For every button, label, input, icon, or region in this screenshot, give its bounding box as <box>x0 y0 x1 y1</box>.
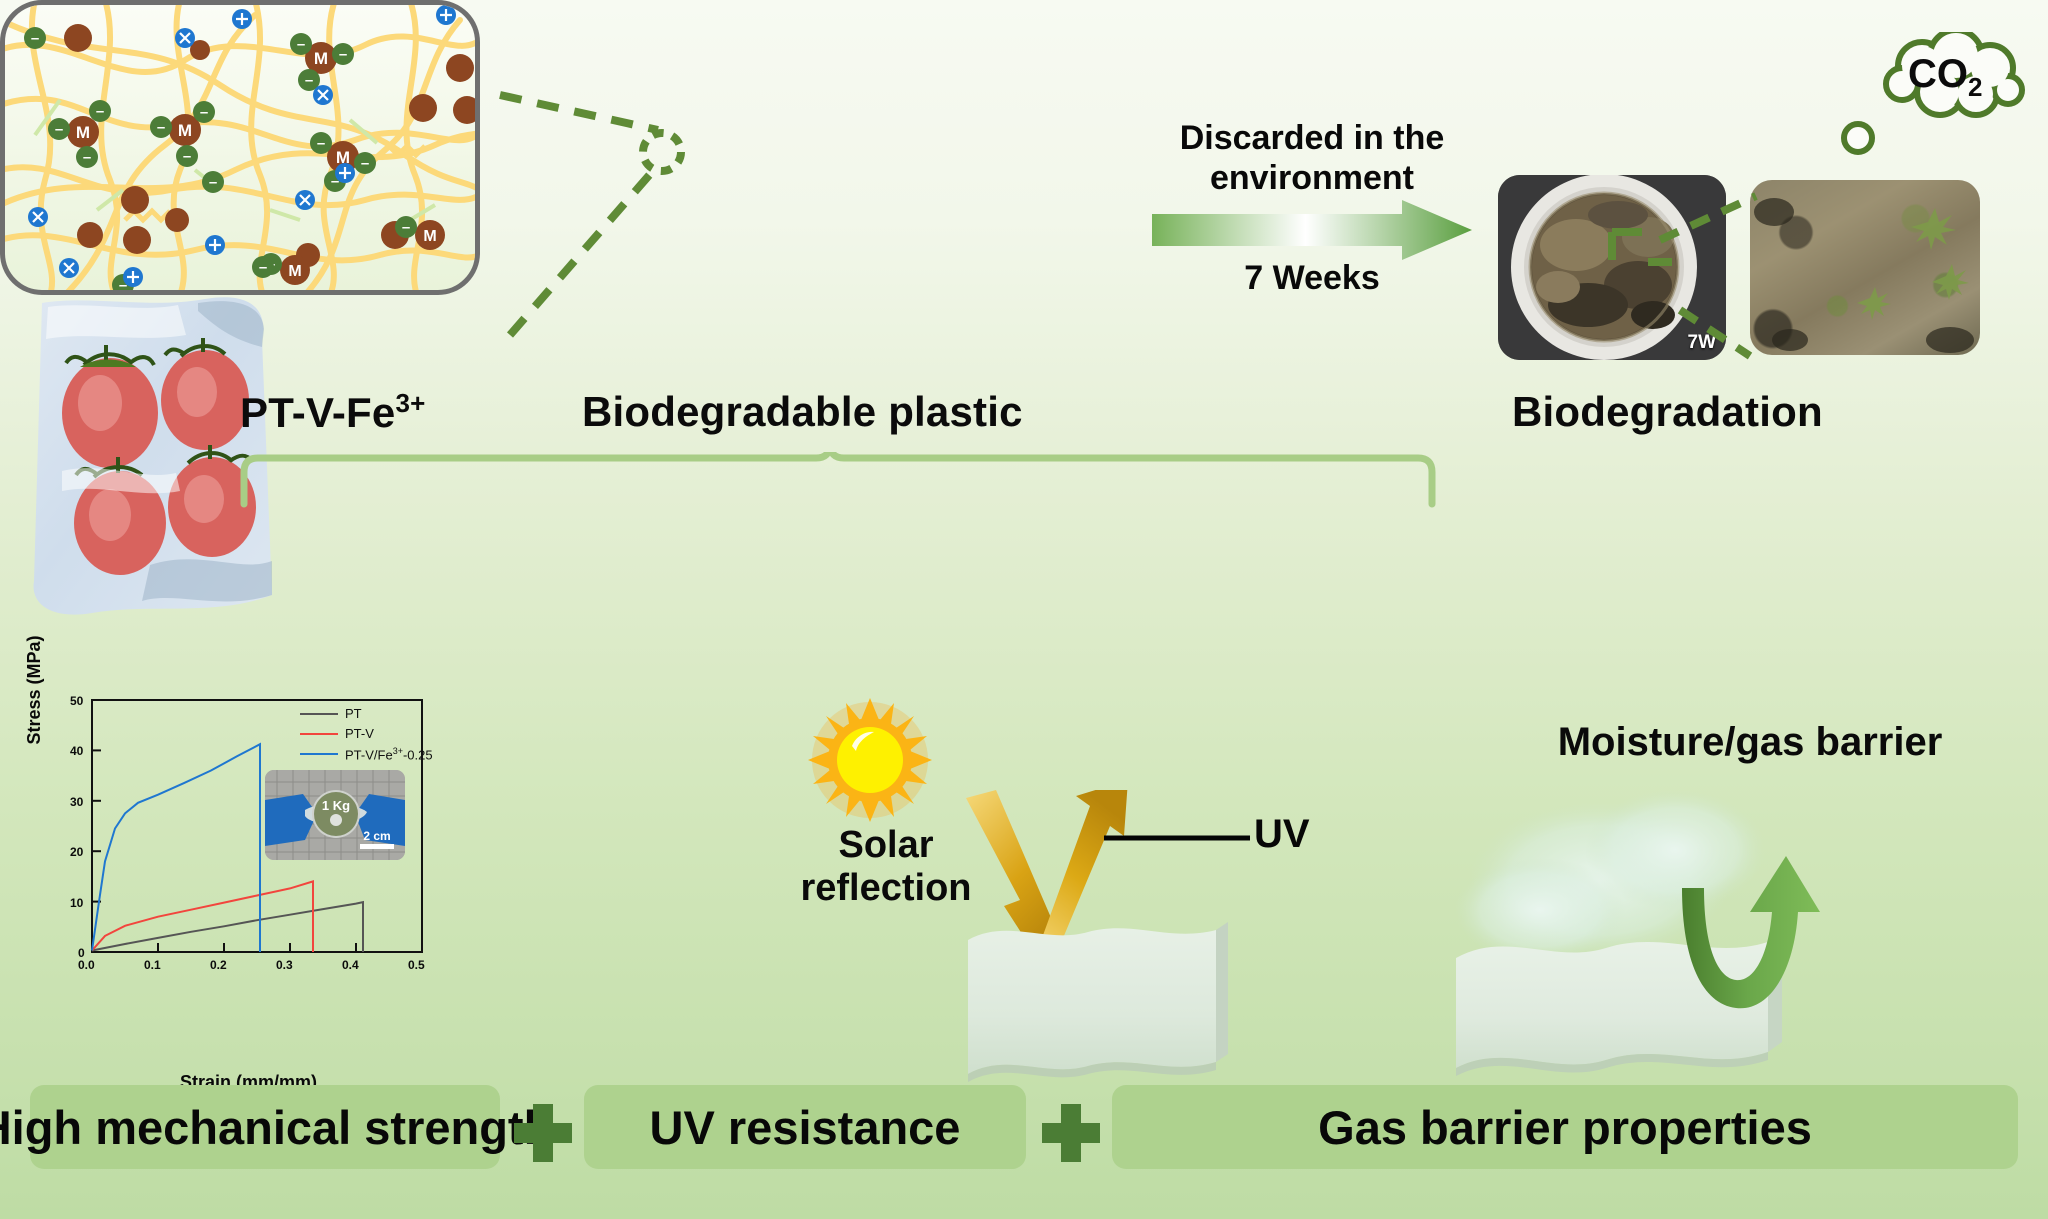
uv-label: UV <box>1254 812 1310 857</box>
plus-icon-2 <box>1042 1104 1100 1162</box>
legend-item-ptvfe: PT-V/Fe3+-0.25 <box>300 746 433 762</box>
chart-y-axis-label: Stress (MPa) <box>24 620 45 760</box>
uv-reflection-diagram <box>960 790 1380 1090</box>
ytick-30: 30 <box>70 795 83 809</box>
xtick-4: 0.4 <box>342 958 359 972</box>
chart-inset-photo: 1 Kg 2 cm <box>265 770 405 860</box>
ytick-10: 10 <box>70 896 83 910</box>
ytick-50: 50 <box>70 694 83 708</box>
banner-gas-barrier: Gas barrier properties <box>1112 1085 2018 1169</box>
plus-icon-1 <box>514 1104 572 1162</box>
banner-uv-resistance: UV resistance <box>584 1085 1026 1169</box>
co2-bubble-tail <box>1838 118 1878 158</box>
ytick-20: 20 <box>70 845 83 859</box>
moisture-cloud <box>1455 790 1765 962</box>
legend-swatch-pt <box>300 713 338 715</box>
svg-text:1 Kg: 1 Kg <box>322 798 350 813</box>
legend-label-ptv: PT-V <box>345 726 374 741</box>
legend-label-ptvfe: PT-V/Fe3+-0.25 <box>345 746 433 762</box>
photo-zoom-dashed-connector <box>1560 180 1790 370</box>
barrier-diagram <box>1450 760 2010 1080</box>
xtick-1: 0.1 <box>144 958 161 972</box>
arrow-caption-duration: 7 Weeks <box>1152 258 1472 298</box>
ytick-40: 40 <box>70 744 83 758</box>
co2-label: CO2 <box>1908 52 1982 103</box>
callout-dashed-lines <box>480 60 710 390</box>
heading-biodegradable-plastic: Biodegradable plastic <box>582 388 1023 436</box>
arrow-caption-top: Discarded in the environment <box>1152 118 1472 198</box>
process-arrow <box>1152 200 1472 260</box>
discard-line-1: Discarded in the <box>1180 119 1445 157</box>
heading-biodegradation: Biodegradation <box>1512 388 1823 436</box>
stress-strain-chart <box>0 0 470 1100</box>
legend-item-pt: PT <box>300 706 433 721</box>
xtick-0: 0.0 <box>78 958 95 972</box>
svg-text:2 cm: 2 cm <box>363 829 390 843</box>
xtick-2: 0.2 <box>210 958 227 972</box>
solar-reflection-label: Solar reflection <box>796 824 976 909</box>
discard-line-2: environment <box>1210 159 1414 197</box>
legend-swatch-ptvfe <box>300 753 338 755</box>
banner-mechanical-strength: High mechanical strength <box>30 1085 500 1169</box>
legend-item-ptv: PT-V <box>300 726 433 741</box>
xtick-5: 0.5 <box>408 958 425 972</box>
legend-label-pt: PT <box>345 706 362 721</box>
legend-swatch-ptv <box>300 733 338 735</box>
moisture-gas-barrier-label: Moisture/gas barrier <box>1490 720 2010 765</box>
chart-legend: PT PT-V PT-V/Fe3+-0.25 <box>300 706 433 767</box>
xtick-3: 0.3 <box>276 958 293 972</box>
